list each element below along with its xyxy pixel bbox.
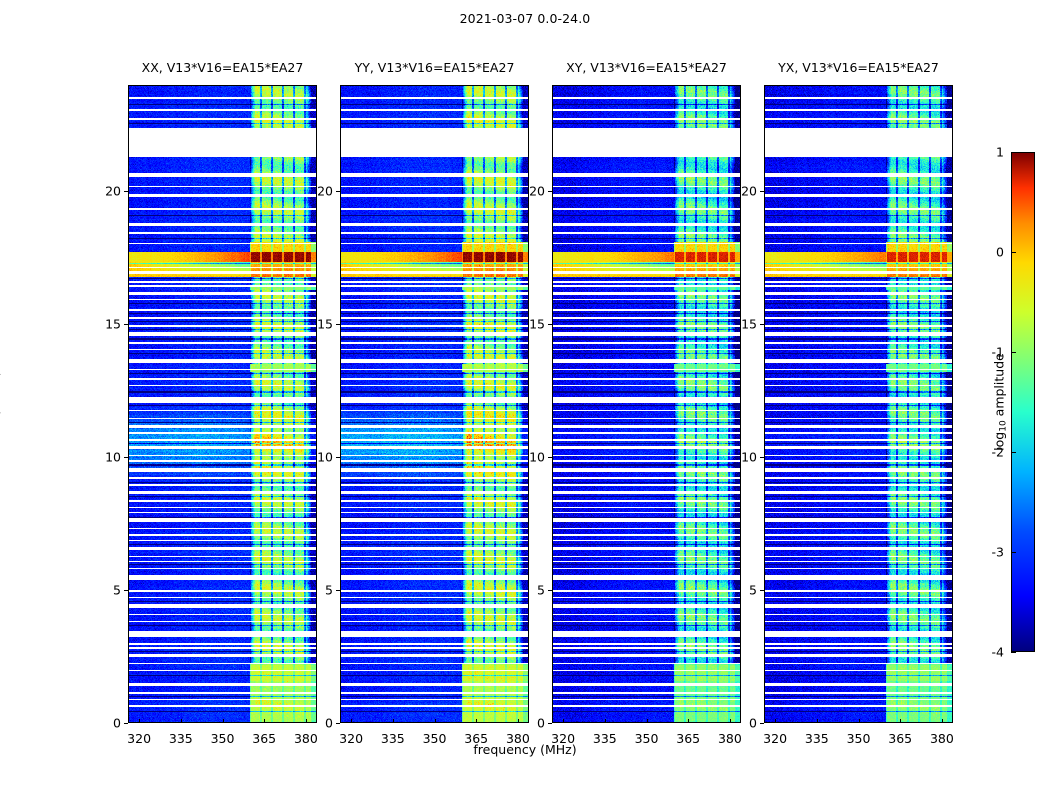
colorbar-tick-mark	[1011, 152, 1016, 153]
y-tick-label: 10	[105, 450, 121, 465]
y-tick-label: 0	[749, 716, 757, 731]
y-tick-mark	[760, 457, 764, 458]
y-tick-mark	[336, 324, 340, 325]
waterfall-image	[765, 86, 952, 722]
colorbar-tick-label: -4	[992, 645, 1004, 660]
y-tick-label: 0	[325, 716, 333, 731]
x-tick-mark	[942, 719, 943, 723]
panel-title-yy: YY, V13*V16=EA15*EA27	[340, 60, 529, 75]
x-tick-mark	[775, 719, 776, 723]
x-tick-mark	[393, 719, 394, 723]
y-tick-label: 20	[529, 184, 545, 199]
y-tick-label: 10	[741, 450, 757, 465]
x-tick-mark	[476, 719, 477, 723]
x-tick-mark	[264, 719, 265, 723]
colorbar-tick-mark	[1011, 352, 1016, 353]
y-tick-mark	[124, 324, 128, 325]
y-tick-label: 15	[105, 317, 121, 332]
x-tick-mark	[859, 719, 860, 723]
x-tick-mark	[900, 719, 901, 723]
y-tick-label: 5	[325, 583, 333, 598]
colorbar-tick-mark	[1011, 552, 1016, 553]
y-tick-mark	[336, 590, 340, 591]
colorbar-tick-mark	[1011, 452, 1016, 453]
y-tick-mark	[760, 590, 764, 591]
x-axis-label: frequency (MHz)	[0, 742, 1050, 757]
y-tick-label: 0	[537, 716, 545, 731]
colorbar-tick-label: -3	[992, 545, 1004, 560]
waterfall-image	[553, 86, 740, 722]
y-tick-mark	[124, 457, 128, 458]
x-tick-mark	[435, 719, 436, 723]
y-tick-label: 20	[741, 184, 757, 199]
colorbar-tick-mark	[1011, 652, 1016, 653]
y-tick-mark	[336, 723, 340, 724]
x-tick-mark	[563, 719, 564, 723]
colorbar-label-tail: amplitude	[992, 353, 1007, 420]
y-tick-mark	[548, 590, 552, 591]
waterfall-panel-xx[interactable]	[128, 85, 317, 723]
x-tick-mark	[139, 719, 140, 723]
x-tick-mark	[688, 719, 689, 723]
y-tick-mark	[548, 324, 552, 325]
figure-suptitle: 2021-03-07 0.0-24.0	[0, 11, 1050, 26]
x-tick-mark	[306, 719, 307, 723]
y-tick-mark	[124, 590, 128, 591]
y-tick-mark	[548, 723, 552, 724]
panel-title-xx: XX, V13*V16=EA15*EA27	[128, 60, 317, 75]
y-tick-mark	[760, 723, 764, 724]
y-tick-label: 20	[317, 184, 333, 199]
y-tick-label: 0	[113, 716, 121, 731]
x-tick-mark	[605, 719, 606, 723]
panel-title-yx: YX, V13*V16=EA15*EA27	[764, 60, 953, 75]
y-tick-label: 5	[537, 583, 545, 598]
y-tick-mark	[760, 324, 764, 325]
waterfall-image	[129, 86, 316, 722]
y-tick-label: 5	[113, 583, 121, 598]
y-axis-label: UT (hours)	[0, 371, 2, 437]
x-tick-mark	[518, 719, 519, 723]
x-tick-mark	[181, 719, 182, 723]
waterfall-image	[341, 86, 528, 722]
waterfall-panel-yx[interactable]	[764, 85, 953, 723]
y-tick-mark	[124, 191, 128, 192]
y-tick-label: 10	[529, 450, 545, 465]
y-tick-label: 15	[529, 317, 545, 332]
y-tick-label: 5	[749, 583, 757, 598]
x-tick-mark	[351, 719, 352, 723]
y-tick-mark	[548, 191, 552, 192]
colorbar-tick-mark	[1011, 252, 1016, 253]
x-tick-mark	[223, 719, 224, 723]
y-tick-label: 10	[317, 450, 333, 465]
y-tick-mark	[336, 191, 340, 192]
y-tick-label: 20	[105, 184, 121, 199]
waterfall-panel-xy[interactable]	[552, 85, 741, 723]
colorbar[interactable]	[1011, 152, 1035, 652]
x-tick-mark	[730, 719, 731, 723]
colorbar-label-main: log	[992, 432, 1007, 451]
y-tick-mark	[760, 191, 764, 192]
y-tick-label: 15	[317, 317, 333, 332]
y-tick-mark	[548, 457, 552, 458]
x-tick-mark	[647, 719, 648, 723]
colorbar-label: log10 amplitude	[992, 353, 1009, 451]
colorbar-tick-label: 0	[996, 245, 1004, 260]
y-tick-mark	[124, 723, 128, 724]
panel-title-xy: XY, V13*V16=EA15*EA27	[552, 60, 741, 75]
colorbar-tick-label: 1	[996, 145, 1004, 160]
x-tick-mark	[817, 719, 818, 723]
colorbar-label-sub: 10	[999, 420, 1009, 431]
y-tick-label: 15	[741, 317, 757, 332]
y-tick-mark	[336, 457, 340, 458]
figure-canvas: 2021-03-07 0.0-24.0 XX, V13*V16=EA15*EA2…	[0, 0, 1050, 800]
waterfall-panel-yy[interactable]	[340, 85, 529, 723]
